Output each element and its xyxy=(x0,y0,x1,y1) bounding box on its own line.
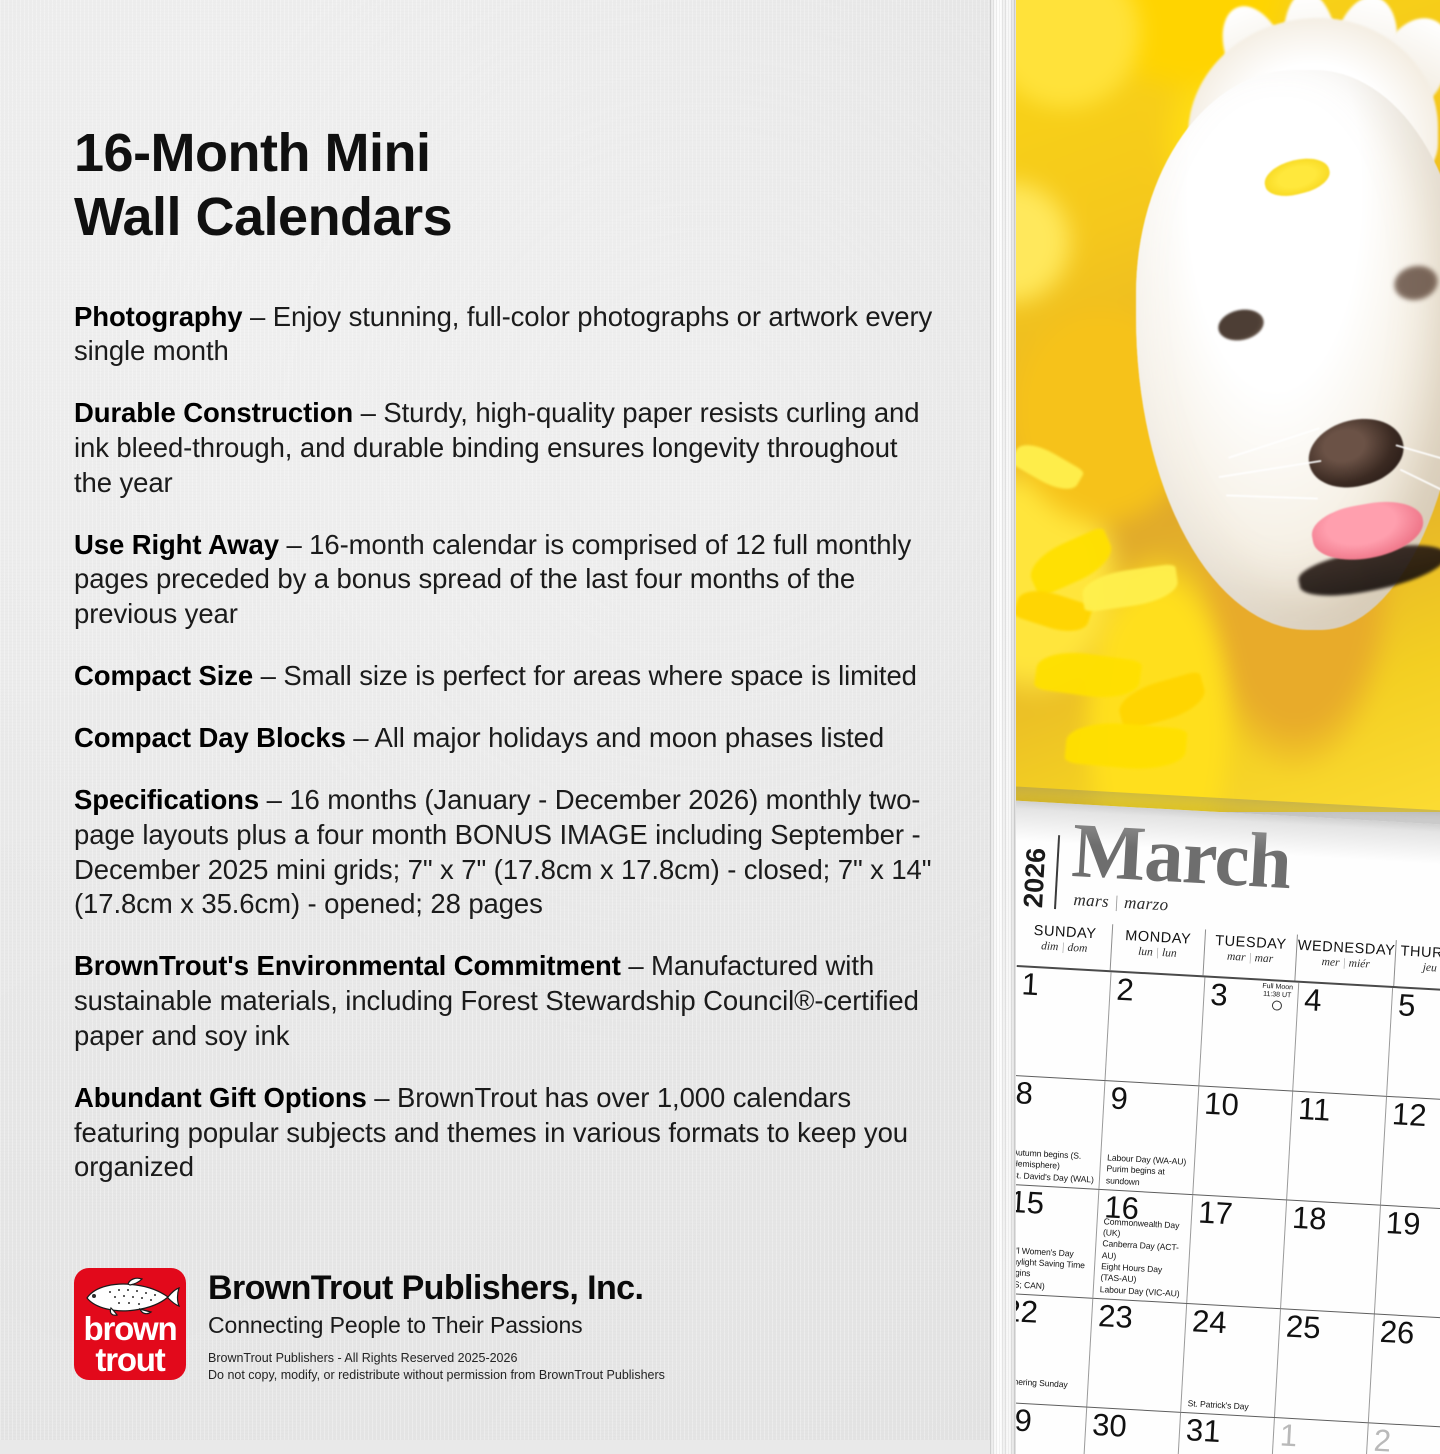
day-events: Int'l Women's DayDaylight Saving Time be… xyxy=(1005,1244,1091,1294)
weekday-header: SUNDAYdim|dom xyxy=(1017,919,1112,970)
weekday-header: TUESDAYmar|mar xyxy=(1202,929,1297,980)
day-number: 1 xyxy=(1021,969,1107,1003)
day-number: 24 xyxy=(1191,1306,1276,1340)
full-moon-icon xyxy=(1271,1000,1282,1011)
calendar-day-cell[interactable]: 3Full Moon11:38 UT xyxy=(1198,977,1298,1090)
moon-phase: Full Moon11:38 UT xyxy=(1261,983,1293,1012)
day-number: 11 xyxy=(1297,1094,1382,1128)
calendar-month-name: March xyxy=(1070,817,1292,895)
calendar-table: SUNDAYdim|domMONDAYlun|lunTUESDAYmar|mar… xyxy=(990,919,1440,1454)
feature-item: BrownTrout's Environmental Commitment – … xyxy=(74,949,934,1053)
weekday-header: WEDNESDAYmer|miér xyxy=(1295,935,1396,986)
copyright-line-1: BrownTrout Publishers - All Rights Reser… xyxy=(208,1350,665,1368)
day-number: 5 xyxy=(1397,990,1440,1024)
day-number: 4 xyxy=(1303,985,1388,1019)
browntrout-logo-wordmark: brown trout xyxy=(74,1314,186,1375)
day-number: 2 xyxy=(1116,975,1201,1009)
day-number: 9 xyxy=(1110,1083,1195,1117)
masthead-divider xyxy=(1054,835,1060,909)
day-number: 26 xyxy=(1379,1317,1440,1351)
feature-item: Photography – Enjoy stunning, full-color… xyxy=(74,300,934,369)
calendar-day-cell[interactable]: 11 xyxy=(1286,1092,1386,1205)
page-title-line-2: Wall Calendars xyxy=(74,186,834,250)
calendar-day-cell[interactable]: 24St. Patrick's Day xyxy=(1180,1304,1280,1417)
page-title: 16-Month Mini Wall Calendars xyxy=(74,122,834,249)
calendar-day-cell[interactable]: 9Labour Day (WA-AU)Purim begins at sundo… xyxy=(1098,1081,1198,1194)
calendar-photo-page xyxy=(1006,0,1440,812)
feature-item: Compact Size – Small size is perfect for… xyxy=(74,659,934,694)
event-text: Purim begins at sundown xyxy=(1106,1164,1190,1191)
calendar-day-cell[interactable]: 17 xyxy=(1186,1195,1286,1308)
calendar-day-cell[interactable]: 10 xyxy=(1192,1086,1292,1199)
day-number: 17 xyxy=(1197,1198,1282,1232)
feature-term: BrownTrout's Environmental Commitment xyxy=(74,950,621,981)
feature-term: Use Right Away xyxy=(74,529,279,560)
feature-term: Photography xyxy=(74,301,242,332)
copyright-line-2: Do not copy, modify, or redistribute wit… xyxy=(208,1367,665,1385)
product-photo-composite: 2026 March mars|marzo SUNDAYdim|domMONDA… xyxy=(990,0,1440,1454)
calendar-day-cell[interactable]: 8Autumn begins (S. Hemisphere)St. David'… xyxy=(1005,1076,1105,1189)
event-text: St. Patrick's Day xyxy=(1187,1398,1271,1414)
feature-item: Abundant Gift Options – BrownTrout has o… xyxy=(74,1081,934,1185)
weekday-header: MONDAYlun|lun xyxy=(1109,924,1204,975)
page-title-line-1: 16-Month Mini xyxy=(74,122,834,186)
weekday-es: lun xyxy=(1162,947,1177,960)
product-info-panel: 16-Month Mini Wall Calendars Photography… xyxy=(0,0,1010,1440)
brand-footer: brown trout BrownTrout Publishers, Inc. … xyxy=(74,1268,665,1385)
day-number: 15 xyxy=(1009,1187,1095,1221)
weekday-name-alt: jeu|jue xyxy=(1395,960,1440,977)
feature-term: Compact Size xyxy=(74,660,253,691)
day-events: Autumn begins (S. Hemisphere)St. David's… xyxy=(1011,1147,1097,1186)
day-number: 19 xyxy=(1385,1208,1440,1242)
day-events: St. Patrick's Day xyxy=(1187,1398,1271,1414)
moon-phase-time: 11:38 UT xyxy=(1263,991,1292,1000)
calendar-weeks: 123Full Moon11:38 UT458Autumn begins (S.… xyxy=(990,967,1440,1454)
calendar-day-cell[interactable]: 1 xyxy=(1268,1418,1368,1454)
weekday-fr: lun xyxy=(1138,946,1153,959)
weekday-es: dom xyxy=(1067,942,1087,955)
calendar-day-cell[interactable]: 30 xyxy=(1080,1408,1180,1454)
weekday-header: THURSDAYjeu|jue xyxy=(1393,940,1440,991)
month-separator: | xyxy=(1109,892,1125,912)
calendar-day-cell[interactable]: 31 xyxy=(1174,1413,1274,1454)
calendar-day-cell[interactable]: 5 xyxy=(1386,988,1440,1101)
day-number: 25 xyxy=(1285,1312,1370,1346)
calendar-day-cell[interactable]: 2 xyxy=(1362,1423,1440,1454)
calendar-day-cell[interactable]: 25 xyxy=(1274,1309,1374,1422)
weekday-fr: mar xyxy=(1227,951,1246,964)
weekday-es: miér xyxy=(1348,958,1370,971)
dog-subject xyxy=(1076,10,1440,730)
weekday-fr: dim xyxy=(1041,940,1059,953)
feature-item: Use Right Away – 16-month calendar is co… xyxy=(74,528,934,632)
brand-text-block: BrownTrout Publishers, Inc. Connecting P… xyxy=(208,1268,665,1385)
calendar-grid-page: 2026 March mars|marzo SUNDAYdim|domMONDA… xyxy=(990,800,1440,1454)
feature-description: – Small size is perfect for areas where … xyxy=(253,660,917,691)
feature-term: Abundant Gift Options xyxy=(74,1082,367,1113)
calendar-day-cell[interactable]: 16Commonwealth Day (UK)Canberra Day (ACT… xyxy=(1092,1190,1192,1303)
day-number: 23 xyxy=(1098,1301,1183,1335)
calendar-day-cell[interactable]: 23 xyxy=(1086,1299,1186,1412)
feature-item: Durable Construction – Sturdy, high-qual… xyxy=(74,396,934,500)
feature-term: Specifications xyxy=(74,784,259,815)
feature-item: Specifications – 16 months (January - De… xyxy=(74,783,934,922)
calendar-day-cell[interactable]: 4 xyxy=(1292,983,1392,1096)
calendar-day-cell[interactable]: 26 xyxy=(1368,1314,1440,1427)
logo-word-trout: trout xyxy=(74,1345,186,1376)
month-fr: mars xyxy=(1073,890,1110,911)
day-number: 12 xyxy=(1391,1099,1440,1133)
feature-term: Compact Day Blocks xyxy=(74,722,346,753)
copyright-notice: BrownTrout Publishers - All Rights Reser… xyxy=(208,1350,665,1386)
day-number: 8 xyxy=(1015,1078,1101,1112)
calendar-day-cell[interactable]: 1 xyxy=(1011,967,1111,1080)
calendar-day-cell[interactable]: 19 xyxy=(1374,1206,1440,1319)
browntrout-logo: brown trout xyxy=(74,1268,186,1380)
month-es: marzo xyxy=(1124,893,1170,914)
calendar-year: 2026 xyxy=(1020,845,1050,908)
calendar-masthead: 2026 March mars|marzo xyxy=(1020,815,1293,922)
day-events: Labour Day (WA-AU)Purim begins at sundow… xyxy=(1106,1152,1191,1191)
weekday-fr: mer xyxy=(1321,956,1340,969)
day-number: 18 xyxy=(1291,1203,1376,1237)
publisher-tagline: Connecting People to Their Passions xyxy=(208,1312,665,1339)
day-number: 1 xyxy=(1279,1420,1364,1454)
calendar-day-cell[interactable]: 18 xyxy=(1280,1200,1380,1313)
feature-term: Durable Construction xyxy=(74,397,353,428)
calendar-day-cell[interactable]: 12 xyxy=(1380,1097,1440,1210)
calendar-day-cell[interactable]: 2 xyxy=(1105,972,1205,1085)
weekday-es: mar xyxy=(1254,952,1273,965)
feature-item: Compact Day Blocks – All major holidays … xyxy=(74,721,934,756)
weekday-separator: | xyxy=(1436,962,1440,974)
feature-list: Photography – Enjoy stunning, full-color… xyxy=(74,272,934,1211)
day-events: Commonwealth Day (UK)Canberra Day (ACT-A… xyxy=(1100,1216,1187,1300)
day-number: 30 xyxy=(1091,1410,1176,1444)
feature-description: – All major holidays and moon phases lis… xyxy=(346,722,884,753)
publisher-name: BrownTrout Publishers, Inc. xyxy=(208,1270,665,1307)
weekday-fr: jeu xyxy=(1422,962,1437,975)
calendar-page-edges xyxy=(990,0,1016,1454)
day-number: 10 xyxy=(1204,1089,1289,1123)
day-number: 31 xyxy=(1185,1415,1270,1449)
